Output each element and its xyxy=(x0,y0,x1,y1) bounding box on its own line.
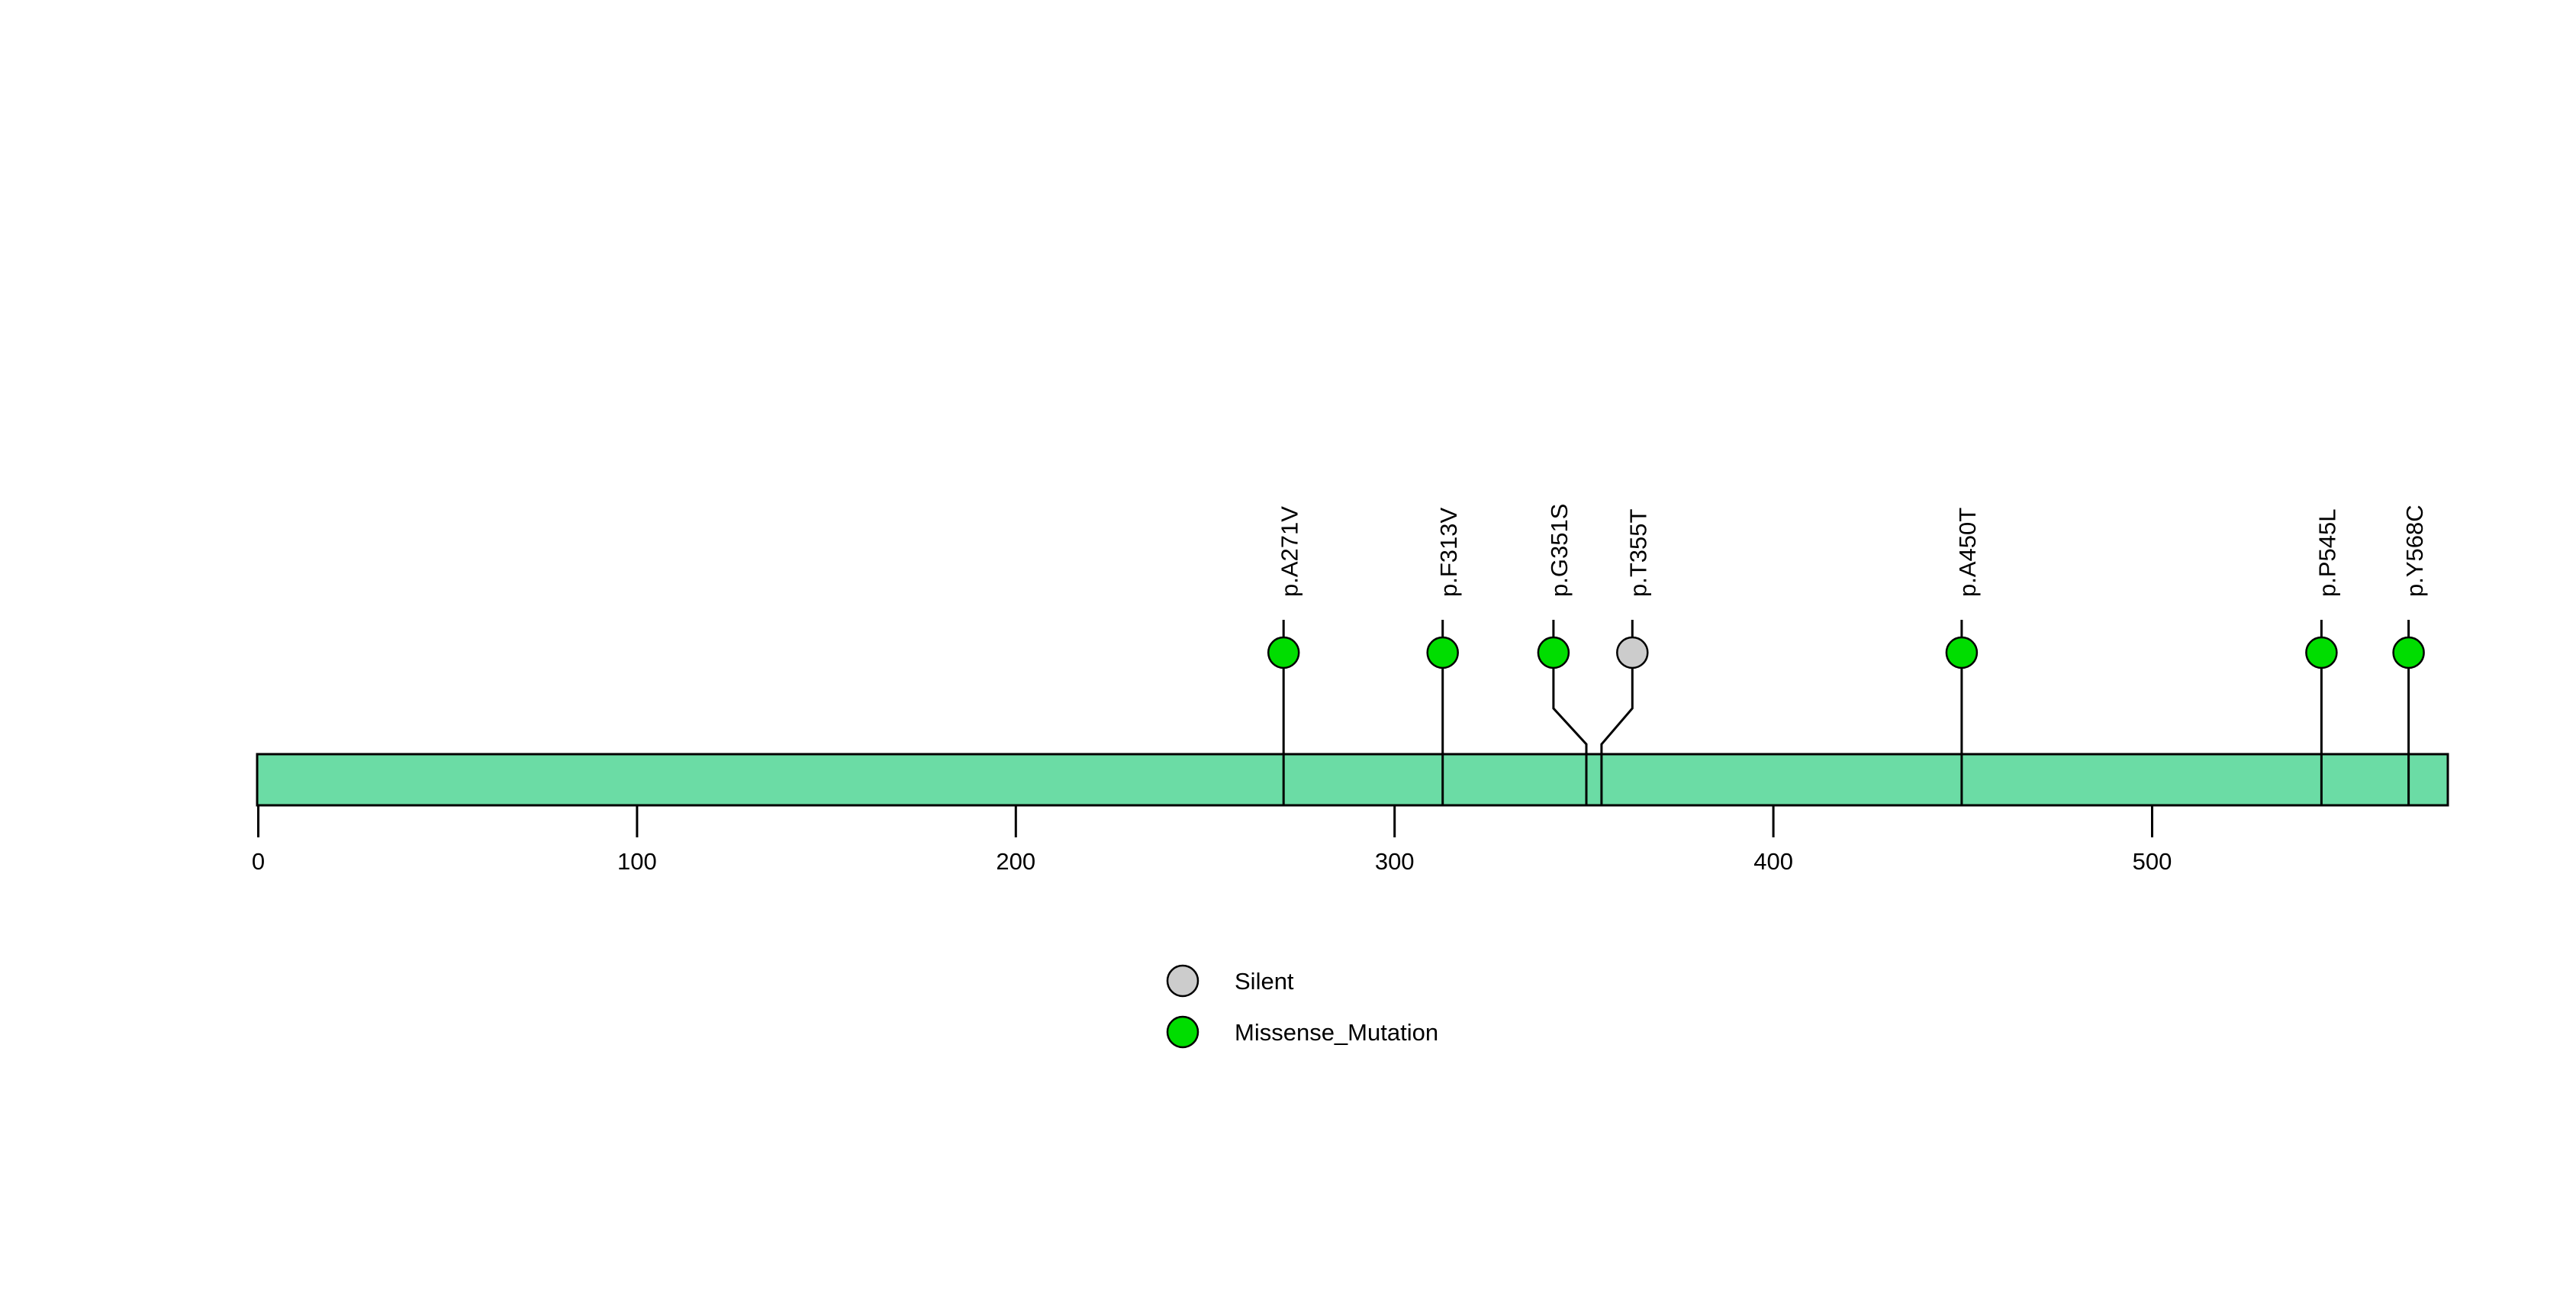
legend: Silent Missense_Mutation xyxy=(1167,966,1438,1047)
legend-marker-silent-icon xyxy=(1167,966,1198,996)
lollipop-label: p.Y568C xyxy=(2401,505,2428,597)
lollipop-plot-canvas: 0 100 200 300 400 500 p.A271V p.F313V p.… xyxy=(0,0,2576,1290)
axis-tick-label-200: 200 xyxy=(996,848,1035,875)
axis-tick-label-300: 300 xyxy=(1375,848,1415,875)
lollipop-head[interactable] xyxy=(2394,637,2424,668)
axis-tick-label-100: 100 xyxy=(617,848,657,875)
axis-tick-label-500: 500 xyxy=(2133,848,2172,875)
x-axis xyxy=(259,805,2153,837)
x-axis-tick-labels: 0 100 200 300 400 500 xyxy=(252,848,2172,875)
legend-item-silent[interactable]: Silent xyxy=(1167,966,1294,996)
lollipop-label: p.F313V xyxy=(1435,507,1462,597)
legend-label-missense-mutation: Missense_Mutation xyxy=(1235,1019,1438,1046)
legend-label-silent: Silent xyxy=(1235,968,1294,995)
lollipop-label: p.T355T xyxy=(1624,508,1651,597)
lollipop-head[interactable] xyxy=(1946,637,1977,668)
lollipop-label: p.A271V xyxy=(1276,506,1302,597)
legend-marker-missense-icon xyxy=(1167,1017,1198,1047)
legend-item-missense-mutation[interactable]: Missense_Mutation xyxy=(1167,1017,1438,1047)
axis-tick-label-400: 400 xyxy=(1753,848,1793,875)
lollipop-label: p.P545L xyxy=(2314,509,2341,598)
lollipop-label: p.G351S xyxy=(1546,504,1573,597)
lollipop-head[interactable] xyxy=(1268,637,1299,668)
lollipop-head[interactable] xyxy=(1617,637,1647,668)
axis-tick-label-0: 0 xyxy=(252,848,265,875)
lollipop-head[interactable] xyxy=(1538,637,1569,668)
lollipop-head[interactable] xyxy=(1428,637,1458,668)
lollipop-label: p.A450T xyxy=(1954,508,1981,597)
protein-backbone-bar xyxy=(257,754,2448,805)
lollipop-head[interactable] xyxy=(2306,637,2336,668)
lollipop-chart: 0 100 200 300 400 500 p.A271V p.F313V p.… xyxy=(0,0,2576,1290)
